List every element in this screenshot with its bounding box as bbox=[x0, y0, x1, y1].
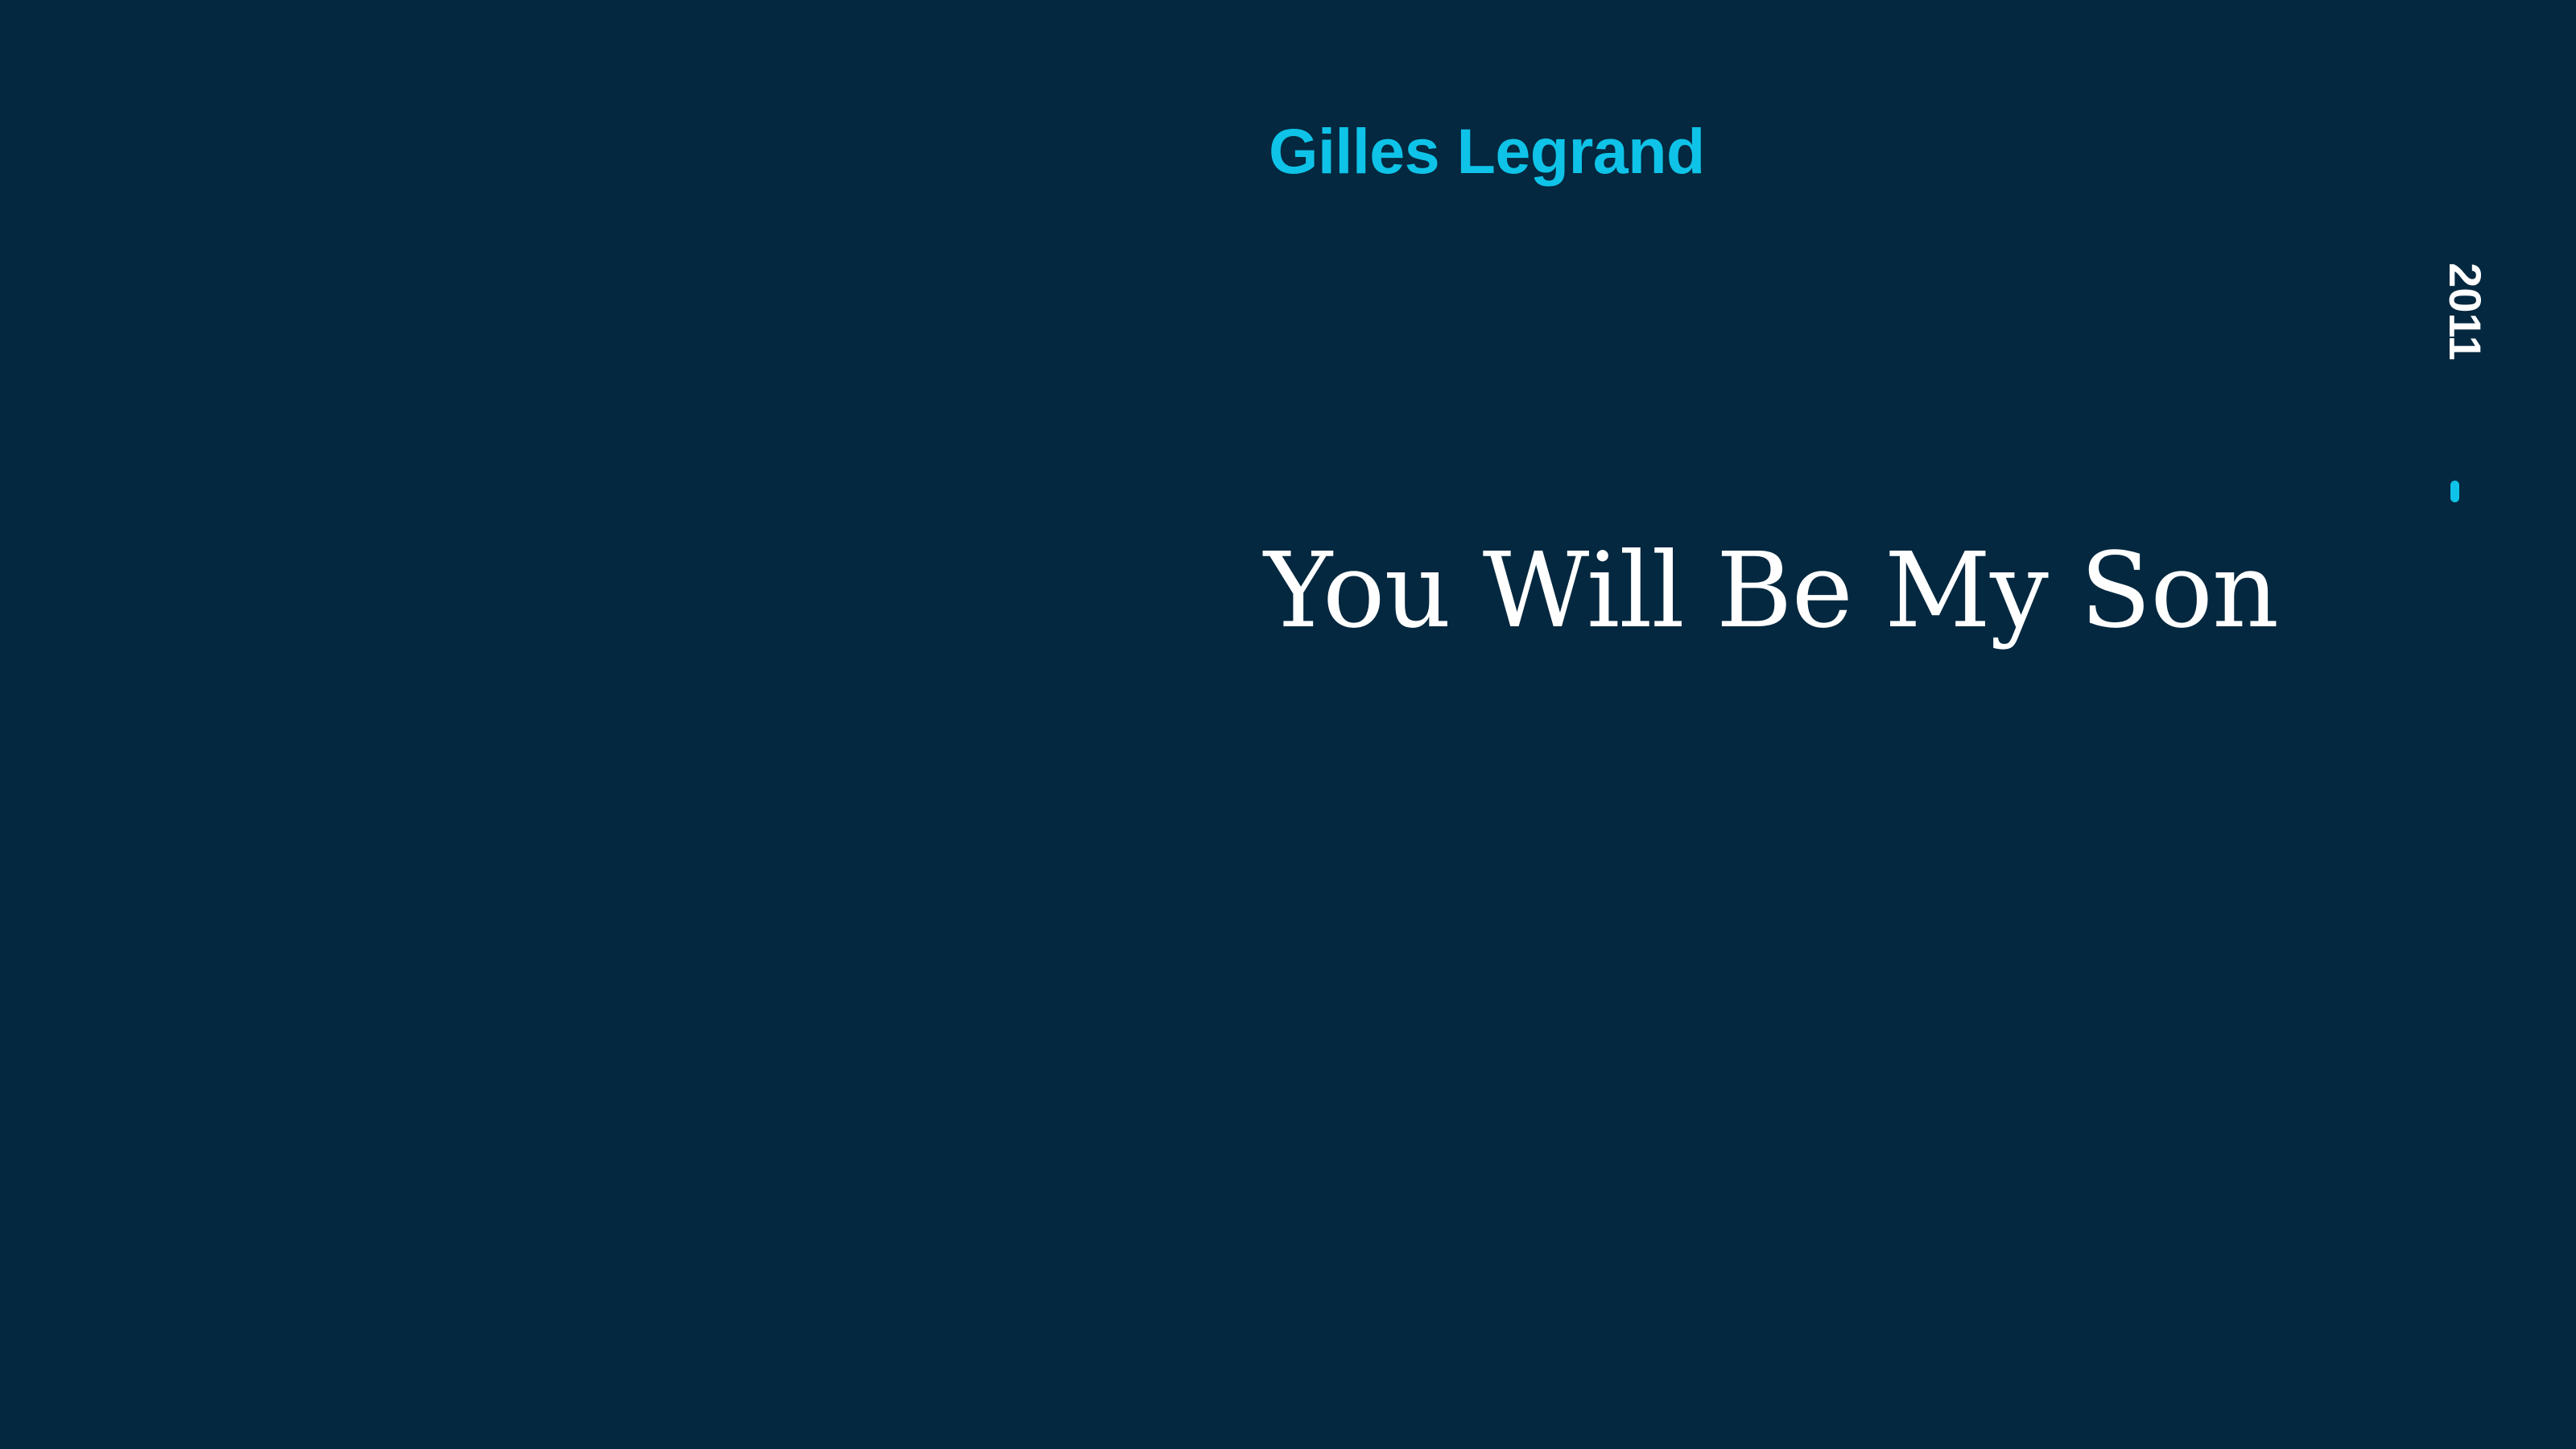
year-rail: 2011 bbox=[2442, 235, 2487, 388]
film-title-card: Gilles Legrand You Will Be My Son 2011 bbox=[0, 0, 2576, 1449]
film-title: You Will Be My Son bbox=[1264, 539, 2278, 643]
accent-mark-icon bbox=[2450, 481, 2459, 502]
release-year: 2011 bbox=[2442, 262, 2487, 361]
director-name: Gilles Legrand bbox=[1269, 119, 1705, 183]
